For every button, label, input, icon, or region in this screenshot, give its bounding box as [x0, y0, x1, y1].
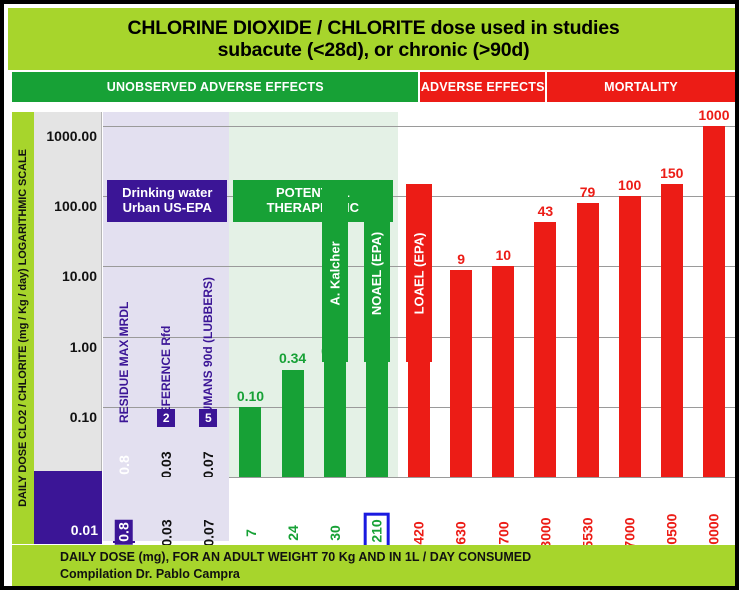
x-tick-label-700: 700	[495, 521, 511, 544]
bar-value-7: 0.10	[221, 388, 279, 404]
bar-700	[492, 266, 514, 477]
x-tick-700: 700	[482, 477, 524, 541]
callout-noael: NOAEL (EPA)	[364, 184, 390, 362]
y-tick-10.00: 10.00	[62, 268, 97, 284]
bar-70000	[703, 126, 725, 477]
x-tick-420: 420	[398, 477, 440, 541]
bar-7	[239, 407, 261, 477]
bar-value-70000: 1000	[685, 107, 739, 123]
x-tick-30: 30	[314, 477, 356, 541]
bar-value-3000: 43	[516, 203, 574, 219]
footer-caption: DAILY DOSE (mg), FOR AN ADULT WEIGHT 70 …	[12, 545, 735, 586]
x-tick-0.03: 0.03	[145, 477, 187, 541]
y-tick-1.00: 1.00	[70, 339, 97, 355]
x-tick-10500: 10500	[651, 477, 693, 541]
callout-loael-text: LOAEL (EPA)	[412, 232, 427, 314]
x-tick-630: 630	[440, 477, 482, 541]
y-tick-1000.00: 1000.00	[46, 128, 97, 144]
bar-value-700: 10	[474, 247, 532, 263]
x-tick-0.8: 0.8	[103, 477, 145, 541]
x-tick-label-0.8: 0.8	[115, 519, 133, 544]
x-tick-label-420: 420	[411, 521, 427, 544]
x-tick-label-630: 630	[453, 521, 469, 544]
x-tick-3000: 3000	[524, 477, 566, 541]
callout-drinking-water: Drinking waterUrban US-EPA	[107, 180, 227, 222]
bar-3000	[534, 222, 556, 477]
bar-count-badge-0.03: 2	[157, 409, 175, 427]
y-axis-bottom-block: 0.01	[34, 471, 102, 544]
gridline-1000.00	[103, 126, 735, 127]
y-tick-100.00: 100.00	[54, 198, 97, 214]
y-axis-title-text: DAILY DOSE CLO2 / CHLORITE (mg / Kg / da…	[17, 149, 29, 507]
callout-noael-text: NOAEL (EPA)	[369, 231, 384, 314]
severity-band: UNOBSERVED ADVERSE EFFECTS ADVERSE EFFEC…	[12, 72, 735, 102]
callout-kalcher-text: A. Kalcher	[327, 241, 342, 305]
x-tick-7000: 7000	[609, 477, 651, 541]
footer-line-2: Compilation Dr. Pablo Campra	[60, 566, 735, 583]
footer-line-1: DAILY DOSE (mg), FOR AN ADULT WEIGHT 70 …	[60, 549, 735, 566]
y-tick-0.10: 0.10	[70, 409, 97, 425]
callout-drinking-water-line-1: Drinking water	[122, 186, 212, 201]
x-tick-label-7: 7	[242, 529, 258, 537]
x-axis-tick-labels: 0.80.030.0772430210420630700300055307000…	[103, 477, 735, 543]
x-tick-label-3000: 3000	[537, 517, 553, 548]
x-tick-label-0.07: 0.07	[200, 519, 216, 546]
x-tick-label-7000: 7000	[622, 517, 638, 548]
chart-page: CHLORINE DIOXIDE / CHLORITE dose used in…	[0, 0, 739, 590]
x-tick-label-210: 210	[367, 515, 387, 546]
bar-descriptor-0.8: RESIDUE MAX MRDL	[117, 302, 131, 423]
bar-10500	[661, 184, 683, 477]
callout-drinking-water-line-2: Urban US-EPA	[123, 201, 212, 216]
x-tick-label-5530: 5530	[580, 517, 596, 548]
bar-count-badge-0.07: 5	[199, 409, 217, 427]
x-tick-label-0.03: 0.03	[158, 519, 174, 546]
y-axis-title: DAILY DOSE CLO2 / CHLORITE (mg / Kg / da…	[12, 112, 34, 544]
band-adverse-effects: ADVERSE EFFECTS	[420, 72, 547, 102]
callout-kalcher: A. Kalcher	[322, 184, 348, 362]
page-title: CHLORINE DIOXIDE / CHLORITE dose used in…	[8, 8, 739, 70]
x-tick-0.07: 0.07	[187, 477, 229, 541]
callout-loael: LOAEL (EPA)	[406, 184, 432, 362]
y-tick-0.01: 0.01	[71, 522, 98, 538]
bar-descriptor-0.07: HUMANS 90d (LUBBERS)	[201, 277, 215, 423]
bar-30	[324, 362, 346, 477]
x-tick-label-30: 30	[327, 525, 343, 541]
x-tick-210: 210	[356, 477, 398, 541]
bar-5530	[577, 203, 599, 477]
x-tick-70000: 70000	[693, 477, 735, 541]
bar-value-10500: 150	[643, 165, 701, 181]
title-line-1: CHLORINE DIOXIDE / CHLORITE dose used in…	[127, 17, 619, 39]
x-tick-5530: 5530	[566, 477, 608, 541]
title-line-2: subacute (<28d), or chronic (>90d)	[218, 39, 530, 61]
x-tick-24: 24	[272, 477, 314, 541]
band-unobserved-adverse-effects: UNOBSERVED ADVERSE EFFECTS	[12, 72, 420, 102]
bar-630	[450, 270, 472, 477]
bar-24	[282, 370, 304, 478]
x-tick-label-24: 24	[285, 525, 301, 541]
x-tick-7: 7	[229, 477, 271, 541]
bar-7000	[619, 196, 641, 477]
band-mortality: MORTALITY	[547, 72, 735, 102]
